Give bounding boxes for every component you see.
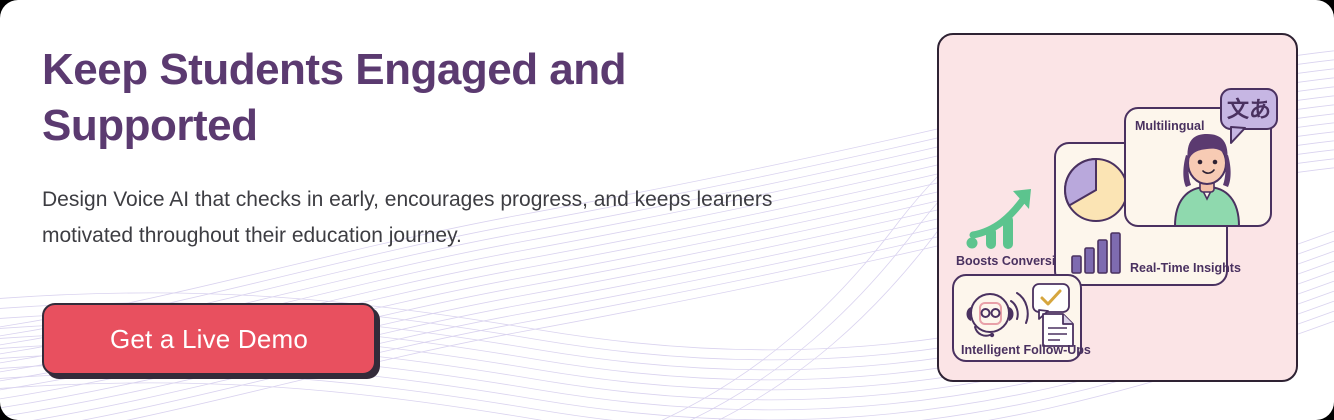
illustration-panel: Boosts Conversions Real-Time Insights <box>937 33 1298 382</box>
get-live-demo-button[interactable]: Get a Live Demo <box>42 303 376 375</box>
hero-text-block: Keep Students Engaged and Supported Desi… <box>42 42 832 254</box>
hero-subcopy: Design Voice AI that checks in early, en… <box>42 182 787 254</box>
real-time-insights-label: Real-Time Insights <box>1130 261 1241 275</box>
card-intelligent-follow-ups: Intelligent Follow-Ups <box>953 275 1091 361</box>
page-title: Keep Students Engaged and Supported <box>42 42 682 154</box>
multilingual-label: Multilingual <box>1135 119 1204 133</box>
card-multilingual: Multilingual <box>1125 89 1277 226</box>
speech-bubble-text: 文あ <box>1227 97 1271 123</box>
hero-banner: Keep Students Engaged and Supported Desi… <box>0 0 1334 420</box>
cta-container: Get a Live Demo <box>42 303 376 375</box>
document-icon <box>1043 314 1073 346</box>
growth-arrow-icon <box>967 189 1032 249</box>
pie-chart-icon <box>1065 159 1127 221</box>
intelligent-follow-ups-label: Intelligent Follow-Ups <box>961 343 1091 357</box>
